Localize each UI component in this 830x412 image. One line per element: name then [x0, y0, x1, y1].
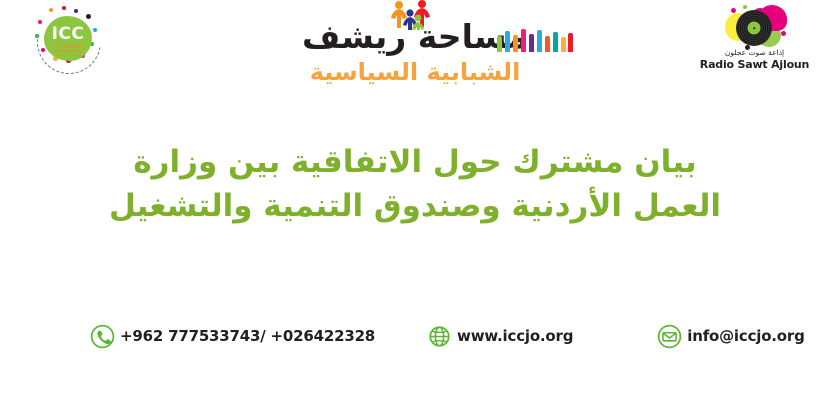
vinyl-record-icon — [736, 10, 772, 46]
radio-name-english: Radio Sawt Ajloun — [697, 59, 812, 70]
crowd-figures-icon — [497, 26, 575, 52]
radio-sawt-ajloun-logo: إذاعة صوت عجلون Radio Sawt Ajloun — [697, 5, 812, 77]
contact-item-website[interactable]: www.iccjo.org — [427, 324, 573, 349]
radio-record-art — [723, 5, 789, 51]
splash-dot — [731, 8, 736, 13]
masahat-wordmark: مساحة ريشف — [302, 20, 528, 53]
splash-dot — [743, 5, 747, 9]
splash-dot — [781, 31, 786, 36]
contact-phone-label: +962 777533743/ +026422328 — [120, 327, 375, 345]
header: ICC For Sustainable Development مساحة ري… — [0, 0, 830, 105]
record-label — [748, 22, 761, 35]
contact-item-phone[interactable]: +962 777533743/ +026422328 — [90, 324, 375, 349]
page-title: بيان مشترك حول الاتفاقية بين وزارة العمل… — [0, 140, 830, 228]
contact-email-label: info@iccjo.org — [687, 327, 804, 345]
globe-icon — [427, 324, 452, 349]
contact-bar: +962 777533743/ +026422328 www.iccjo.org… — [0, 318, 830, 354]
mail-icon — [657, 324, 682, 349]
record-hole — [753, 27, 755, 29]
contact-item-email[interactable]: info@iccjo.org — [657, 324, 804, 349]
phone-icon — [90, 324, 115, 349]
contact-website-label: www.iccjo.org — [457, 327, 573, 345]
poster-canvas: ICC For Sustainable Development مساحة ري… — [0, 0, 830, 412]
people-figures-icon — [385, 0, 445, 30]
radio-name-arabic: إذاعة صوت عجلون — [697, 49, 812, 57]
